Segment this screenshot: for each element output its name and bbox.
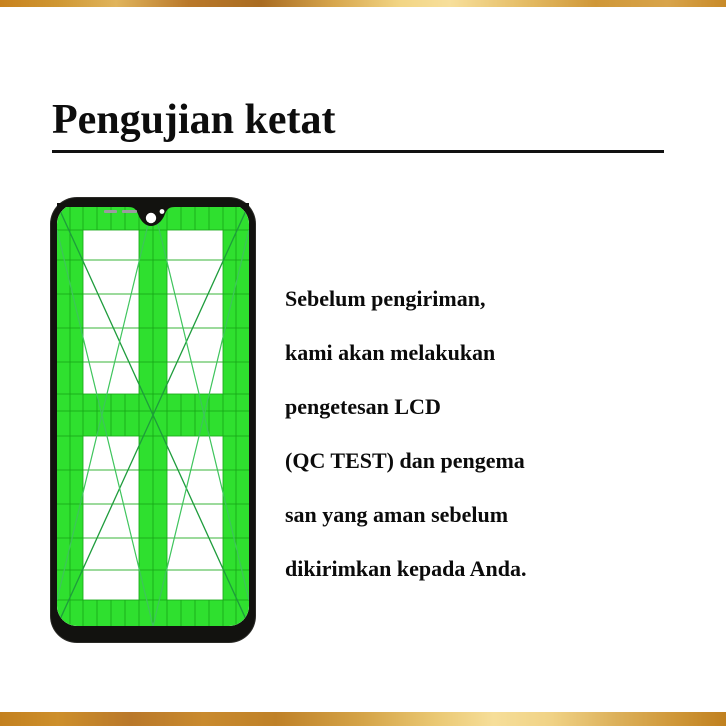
body-paragraph: Sebelum pengiriman, kami akan melakukan …: [285, 272, 655, 596]
body-line: (QC TEST) dan pengema: [285, 434, 655, 488]
title-underline-rule: [52, 150, 664, 153]
body-line: pengetesan LCD: [285, 380, 655, 434]
top-gold-border: [0, 0, 726, 7]
phone-screen: [57, 204, 249, 626]
lcd-qc-test-pattern: [57, 204, 249, 626]
bottom-gold-border: [0, 712, 726, 726]
body-line: kami akan melakukan: [285, 326, 655, 380]
body-line: san yang aman sebelum: [285, 488, 655, 542]
title-block: Pengujian ketat: [52, 95, 662, 153]
page-title: Pengujian ketat: [52, 95, 662, 145]
slide-canvas: Pengujian ketat: [0, 0, 726, 726]
body-line: Sebelum pengiriman,: [285, 272, 655, 326]
phone-mockup: [51, 198, 255, 642]
body-line: dikirimkan kepada Anda.: [285, 542, 655, 596]
